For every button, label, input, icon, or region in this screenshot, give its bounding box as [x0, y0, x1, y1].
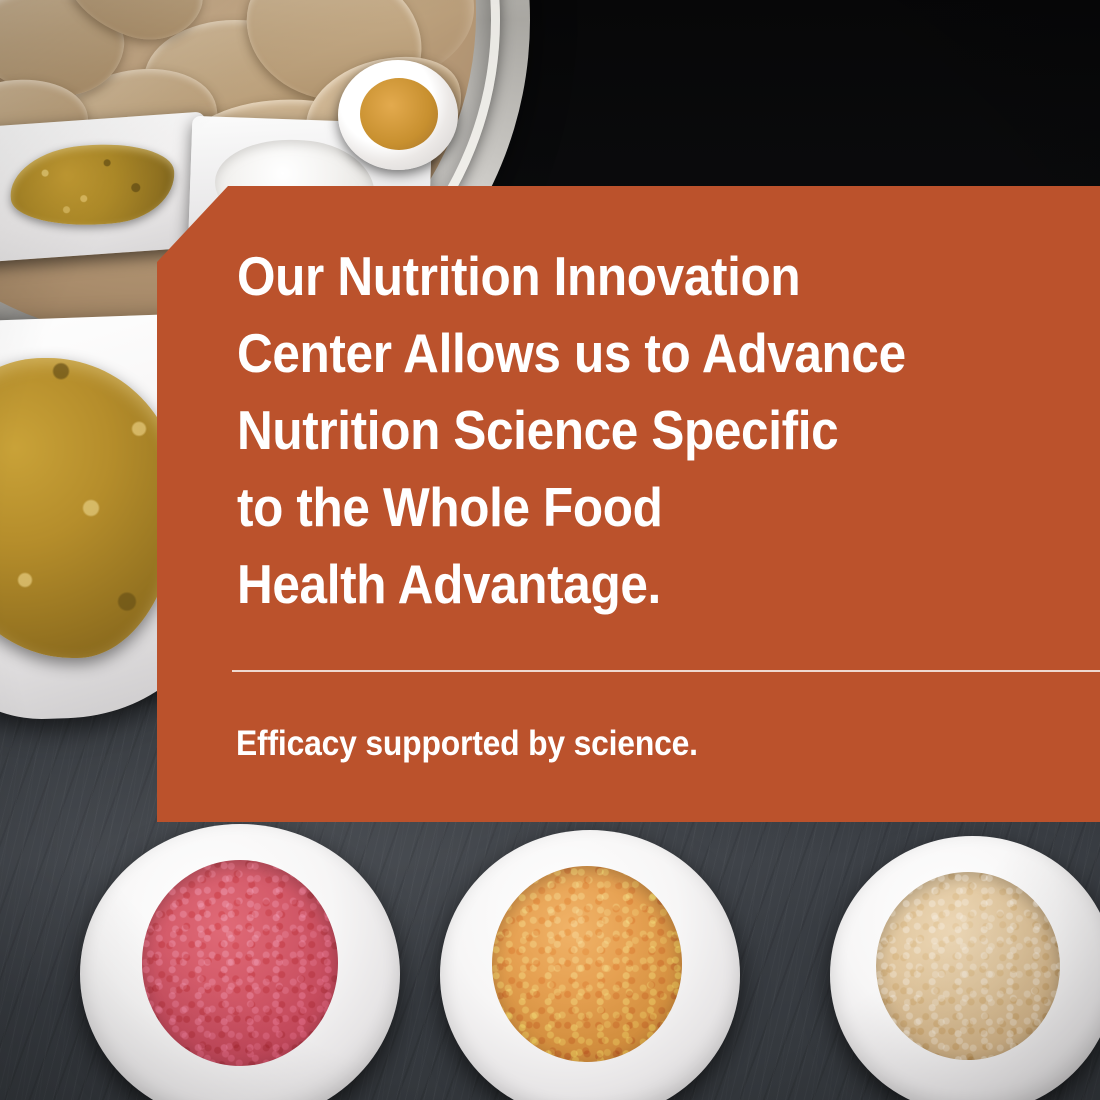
- mustard-powder-sample: [0, 358, 180, 658]
- sample-bowl-2-powder: [492, 866, 682, 1062]
- divider-rule: [232, 670, 1100, 672]
- sample-bowl-3-powder: [876, 872, 1060, 1060]
- headline-line-3: Nutrition Science Specific: [237, 392, 1014, 469]
- banner-stage: Our Nutrition Innovation Center Allows u…: [0, 0, 1100, 1100]
- sample-bowl-1-powder: [142, 860, 338, 1066]
- headline-line-4: to the Whole Food: [237, 469, 1014, 546]
- amber-powder-sample: [360, 78, 438, 150]
- headline-line-1: Our Nutrition Innovation: [237, 238, 1014, 315]
- mustard-powder-grain: [0, 358, 180, 658]
- orange-callout-panel: Our Nutrition Innovation Center Allows u…: [157, 186, 1100, 822]
- headline-line-5: Health Advantage.: [237, 546, 1014, 623]
- subheadline: Efficacy supported by science.: [236, 724, 698, 764]
- page-title: Our Nutrition Innovation Center Allows u…: [237, 238, 1014, 623]
- headline-line-2: Center Allows us to Advance: [237, 315, 1014, 392]
